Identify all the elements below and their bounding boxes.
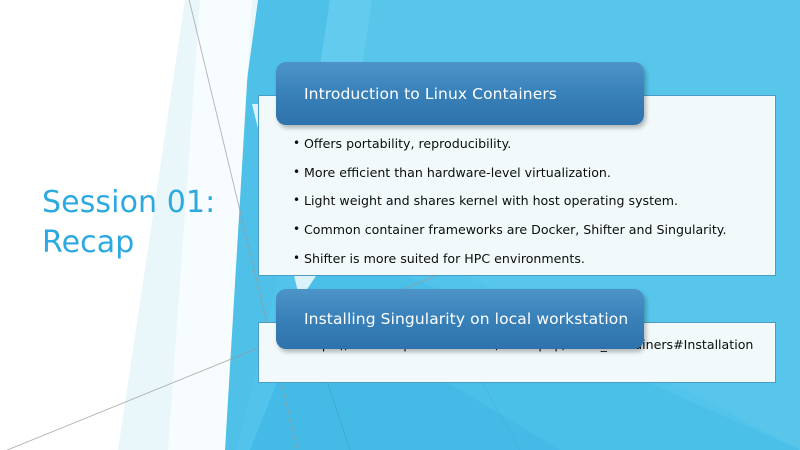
bullet-list-introduction: • Offers portability, reproducibility. •… xyxy=(293,136,761,267)
section-heading-text: Installing Singularity on local workstat… xyxy=(304,310,628,328)
bullet-icon: • xyxy=(293,165,304,180)
list-item: • Light weight and shares kernel with ho… xyxy=(293,193,761,209)
bullet-icon: • xyxy=(293,193,304,208)
section-heading-installing: Installing Singularity on local workstat… xyxy=(276,289,644,349)
list-item-text: Offers portability, reproducibility. xyxy=(304,136,761,152)
page-title: Session 01: Recap xyxy=(42,183,257,262)
page-title-line-1: Session 01: xyxy=(42,183,257,223)
list-item: • Common container frameworks are Docker… xyxy=(293,222,761,238)
list-item: • More efficient than hardware-level vir… xyxy=(293,165,761,181)
section-heading-text: Introduction to Linux Containers xyxy=(304,85,557,103)
bullet-icon: • xyxy=(293,251,304,266)
list-item-text: Light weight and shares kernel with host… xyxy=(304,193,761,209)
presentation-slide: Session 01: Recap • Offers portability, … xyxy=(0,0,800,450)
bullet-icon: • xyxy=(293,136,304,151)
list-item-text: Shifter is more suited for HPC environme… xyxy=(304,251,761,267)
bullet-icon: • xyxy=(293,222,304,237)
page-title-line-2: Recap xyxy=(42,223,257,263)
section-heading-introduction: Introduction to Linux Containers xyxy=(276,62,644,125)
list-item-text: Common container frameworks are Docker, … xyxy=(304,222,761,238)
list-item: • Shifter is more suited for HPC environ… xyxy=(293,251,761,267)
list-item: • Offers portability, reproducibility. xyxy=(293,136,761,152)
list-item-text: More efficient than hardware-level virtu… xyxy=(304,165,761,181)
